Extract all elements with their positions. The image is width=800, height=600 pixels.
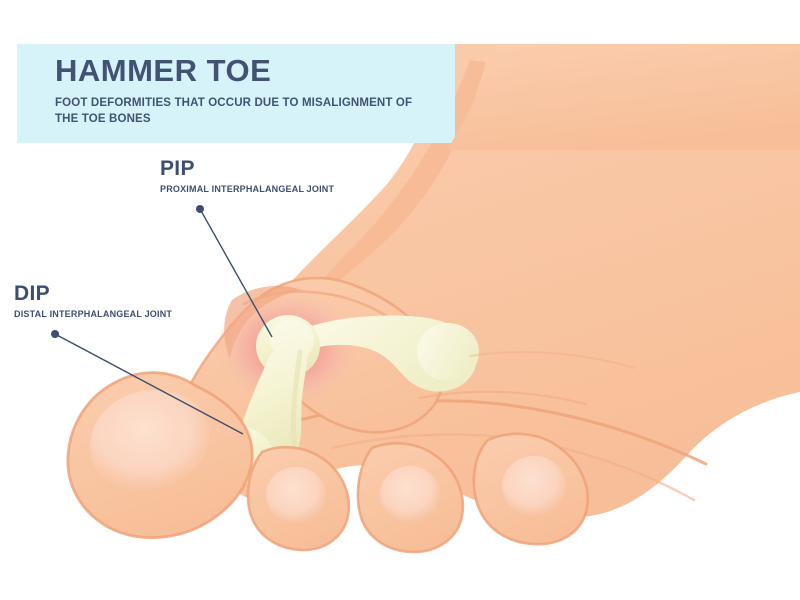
pip-leader-line bbox=[200, 209, 272, 337]
illustration-canvas: HAMMER TOE FOOT DEFORMITIES THAT OCCUR D… bbox=[0, 0, 800, 600]
callout-dip-abbr: DIP bbox=[14, 283, 172, 304]
callout-pip-abbr: PIP bbox=[160, 158, 334, 179]
callout-dip-description: DISTAL INTERPHALANGEAL JOINT bbox=[14, 308, 172, 320]
pip-leader-dot bbox=[196, 205, 204, 213]
callout-pip-description: PROXIMAL INTERPHALANGEAL JOINT bbox=[160, 183, 334, 195]
callout-pip: PIP PROXIMAL INTERPHALANGEAL JOINT bbox=[160, 158, 334, 195]
dip-leader-line bbox=[55, 334, 243, 434]
dip-leader-dot bbox=[51, 330, 59, 338]
callout-dip: DIP DISTAL INTERPHALANGEAL JOINT bbox=[14, 283, 172, 320]
